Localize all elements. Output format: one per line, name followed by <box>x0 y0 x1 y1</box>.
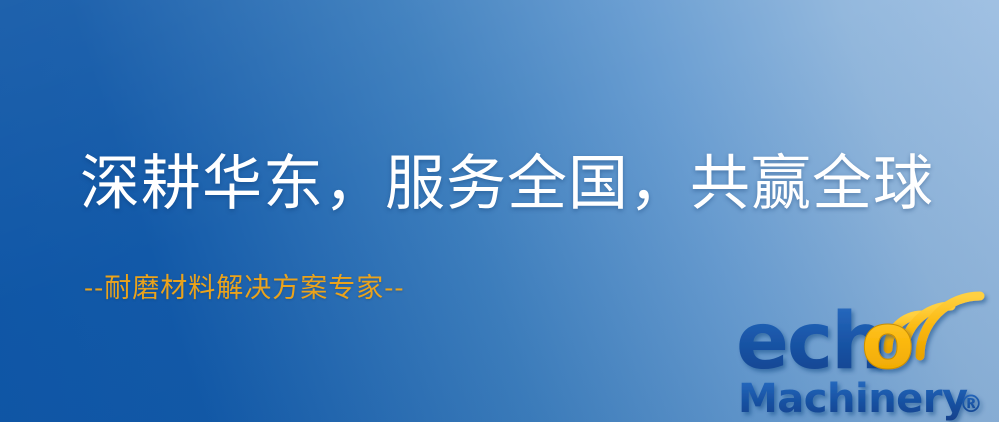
logo-trademark-symbol: ® <box>959 390 983 418</box>
logo-brand-sub: Machinery <box>738 376 968 422</box>
promo-banner: 深耕华东，服务全国，共赢全球 --耐磨材料解决方案专家-- <box>0 0 999 422</box>
echo-machinery-logo: ech o Machinery ® <box>736 294 991 422</box>
banner-headline: 深耕华东，服务全国，共赢全球 <box>80 152 934 217</box>
logo-brand-o: o <box>861 297 915 387</box>
banner-subtitle: --耐磨材料解决方案专家-- <box>84 266 405 305</box>
